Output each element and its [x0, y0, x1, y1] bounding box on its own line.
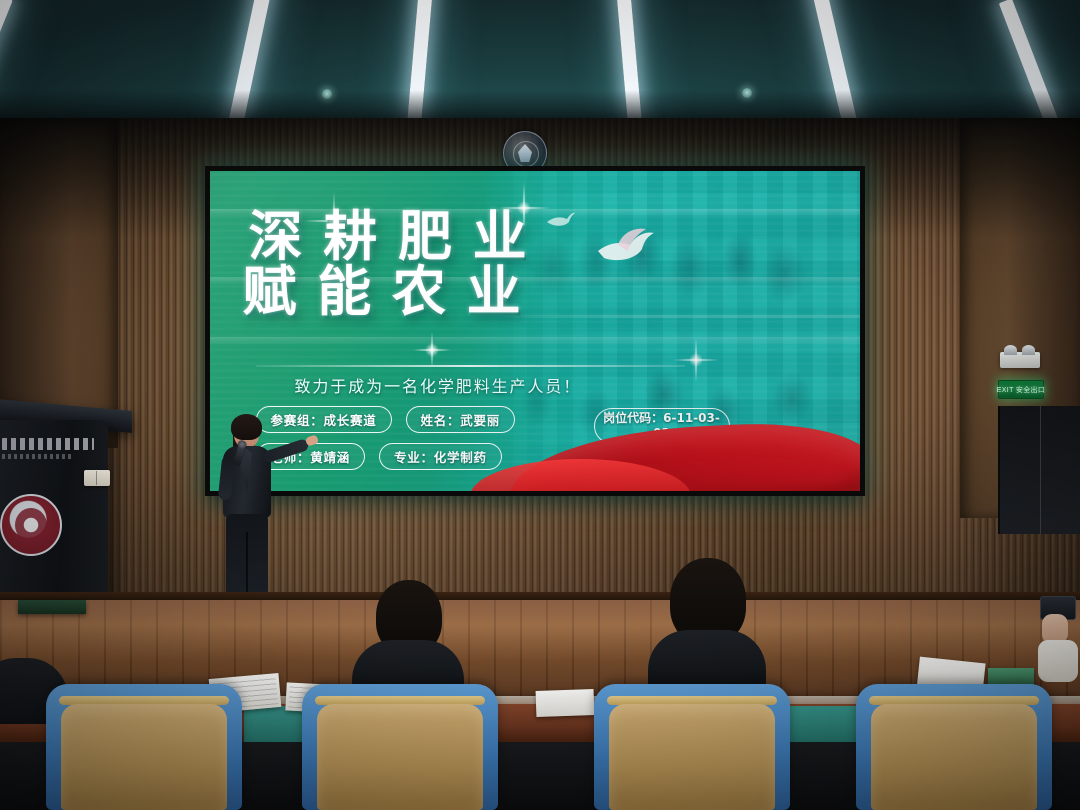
- presenter-legs: [226, 514, 268, 602]
- lectern-subtext: [2, 454, 74, 459]
- side-door[interactable]: [998, 406, 1080, 534]
- lectern: [0, 420, 108, 605]
- audience-seat[interactable]: [46, 684, 242, 810]
- audience-seat[interactable]: [302, 684, 498, 810]
- seat-cushion: [61, 704, 227, 810]
- emblem-core-icon: [518, 144, 532, 162]
- ceiling: [0, 0, 1080, 132]
- auditorium-photo: EXIT 安全出口: [0, 0, 1080, 810]
- lectern-crest-icon: [0, 494, 62, 556]
- seat-cushion: [871, 704, 1037, 810]
- attendee-center: [352, 580, 462, 700]
- presenter: [206, 418, 302, 616]
- attendee-right: [648, 558, 764, 692]
- seat-cushion: [609, 704, 775, 810]
- emergency-light-icon: [1000, 352, 1040, 368]
- notebook-dark[interactable]: [18, 600, 86, 614]
- paper-sheet[interactable]: [536, 689, 595, 717]
- attendee-far-right-filming: [1032, 596, 1080, 676]
- lectern-name-text: [2, 438, 94, 450]
- audience-seat[interactable]: [856, 684, 1052, 810]
- presenter-hair: [231, 414, 262, 440]
- exit-sign-label: EXIT 安全出口: [997, 385, 1046, 395]
- seat-cushion: [317, 704, 483, 810]
- attendee-sleeve: [1038, 640, 1078, 682]
- wall-light-switch[interactable]: [84, 470, 110, 486]
- attendee-shoulders: [648, 630, 766, 692]
- exit-sign: EXIT 安全出口: [998, 380, 1044, 399]
- audience-seat[interactable]: [594, 684, 790, 810]
